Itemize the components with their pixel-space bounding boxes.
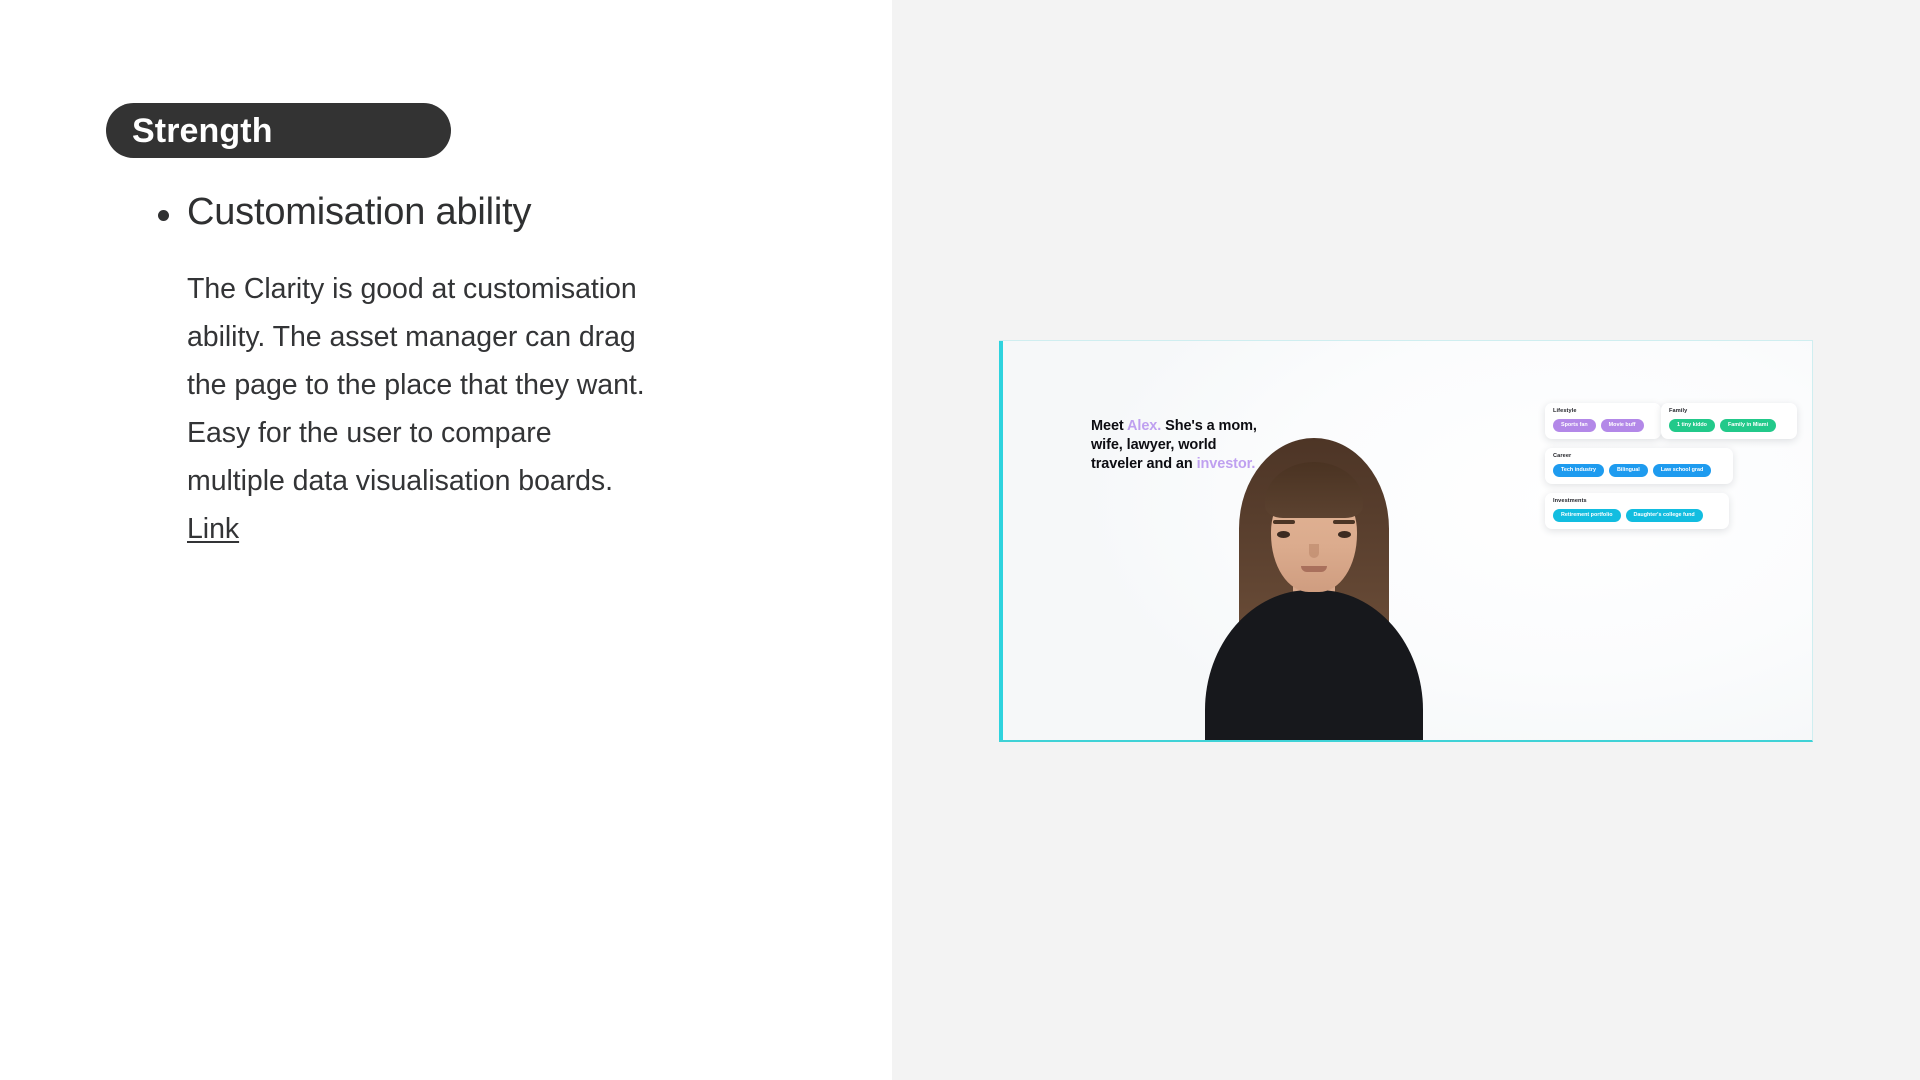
right-media-panel: Meet Alex. She's a mom, wife, lawyer, wo… — [892, 0, 1920, 1080]
heading-row: Customisation ability — [158, 190, 712, 235]
tag-cards-container: LifestyleSports fanMovie buffFamily1 tin… — [1545, 403, 1797, 538]
tag-card-label: Investments — [1553, 499, 1721, 505]
eye-left — [1277, 531, 1290, 538]
tag-chip-row: Retirement portfolioDaughter's college f… — [1553, 509, 1721, 522]
body-paragraph: The Clarity is good at customisation abi… — [187, 265, 657, 553]
tag-chip-row: Tech industryBilingualLaw school grad — [1553, 464, 1725, 477]
tag-chip[interactable]: Tech industry — [1553, 464, 1604, 477]
tag-card: LifestyleSports fanMovie buff — [1545, 403, 1661, 439]
tag-card: InvestmentsRetirement portfolioDaughter'… — [1545, 493, 1729, 529]
tag-chip[interactable]: Sports fan — [1553, 419, 1596, 432]
bullet-point-icon — [158, 210, 169, 221]
tag-chip[interactable]: Law school grad — [1653, 464, 1712, 477]
nose — [1309, 544, 1319, 558]
tag-chip[interactable]: Family in Miami — [1720, 419, 1776, 432]
strength-badge-label: Strength — [132, 114, 273, 148]
reference-link[interactable]: Link — [187, 513, 239, 545]
headline-line3-prefix: traveler and an — [1091, 456, 1197, 472]
tag-card-label: Lifestyle — [1553, 409, 1653, 415]
mouth — [1301, 566, 1327, 572]
tag-card: Family1 tiny kiddoFamily in Miami — [1661, 403, 1797, 439]
tag-card: CareerTech industryBilingualLaw school g… — [1545, 448, 1733, 484]
tag-card-label: Family — [1669, 409, 1789, 415]
tag-chip[interactable]: Movie buff — [1601, 419, 1644, 432]
shoulders-shirt — [1205, 590, 1423, 740]
eye-right — [1338, 531, 1351, 538]
slide-root: Strength Customisation ability The Clari… — [0, 0, 1920, 1080]
person-portrait — [1195, 428, 1433, 740]
content-block: Customisation ability The Clarity is goo… — [152, 190, 712, 581]
strength-badge: Strength — [106, 103, 451, 158]
headline-prefix: Meet — [1091, 418, 1127, 434]
eyebrow-left — [1273, 520, 1295, 524]
video-accent-bar — [999, 341, 1003, 740]
video-screenshot[interactable]: Meet Alex. She's a mom, wife, lawyer, wo… — [999, 340, 1813, 742]
tag-chip[interactable]: Retirement portfolio — [1553, 509, 1621, 522]
tag-card-label: Career — [1553, 454, 1725, 460]
tag-chip[interactable]: 1 tiny kiddo — [1669, 419, 1715, 432]
body-paragraph-text: The Clarity is good at customisation abi… — [187, 273, 645, 497]
eyebrow-right — [1333, 520, 1355, 524]
left-content-panel: Strength Customisation ability The Clari… — [0, 0, 892, 1080]
tag-chip-row: 1 tiny kiddoFamily in Miami — [1669, 419, 1789, 432]
tag-chip[interactable]: Bilingual — [1609, 464, 1648, 477]
tag-chip[interactable]: Daughter's college fund — [1626, 509, 1703, 522]
page-title: Customisation ability — [187, 190, 531, 235]
tag-chip-row: Sports fanMovie buff — [1553, 419, 1653, 432]
headline-name-accent: Alex. — [1127, 418, 1161, 434]
